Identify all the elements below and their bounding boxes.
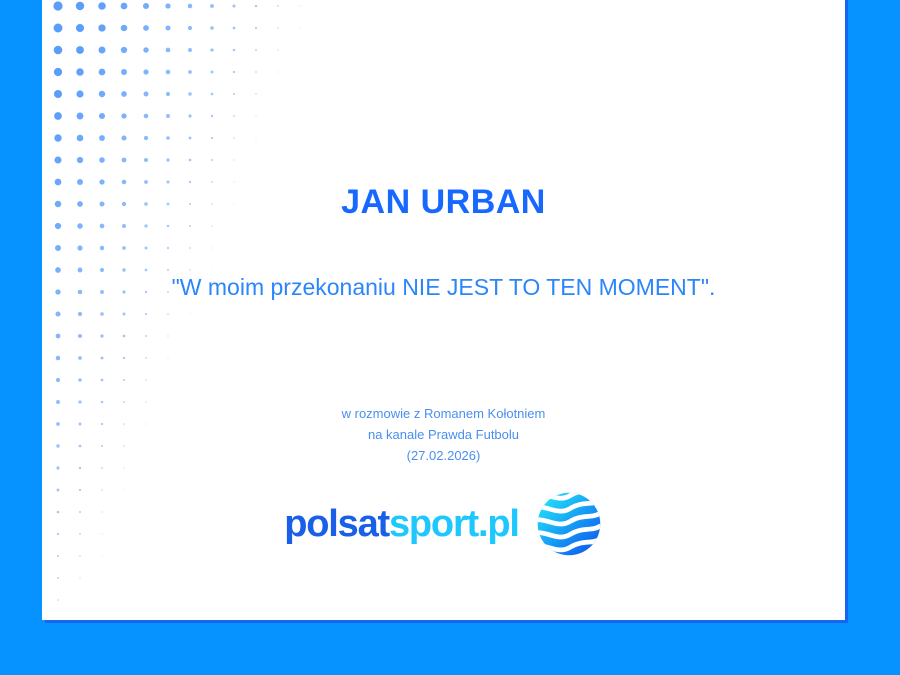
attribution-block: w rozmowie z Romanem Kołotniem na kanale… xyxy=(42,403,845,466)
white-content-card: JAN URBAN "W moim przekonaniu NIE JEST T… xyxy=(42,0,845,620)
polsatsport-logo[interactable]: polsatsport.pl xyxy=(42,489,845,559)
attribution-line-channel: na kanale Prawda Futbolu xyxy=(42,424,845,445)
quote-card-canvas: JAN URBAN "W moim przekonaniu NIE JEST T… xyxy=(0,0,900,675)
logo-wordmark-primary: polsat xyxy=(284,503,389,545)
attribution-line-date: (27.02.2026) xyxy=(42,445,845,466)
attribution-line-source: w rozmowie z Romanem Kołotniem xyxy=(42,403,845,424)
card-content: JAN URBAN "W moim przekonaniu NIE JEST T… xyxy=(42,0,845,620)
quote-text: "W moim przekonaniu NIE JEST TO TEN MOME… xyxy=(42,271,845,303)
logo-wordmark-secondary: sport.pl xyxy=(389,503,519,545)
globe-icon xyxy=(535,490,603,558)
logo-wordmark: polsatsport.pl xyxy=(284,505,518,543)
page-title: JAN URBAN xyxy=(42,180,845,224)
